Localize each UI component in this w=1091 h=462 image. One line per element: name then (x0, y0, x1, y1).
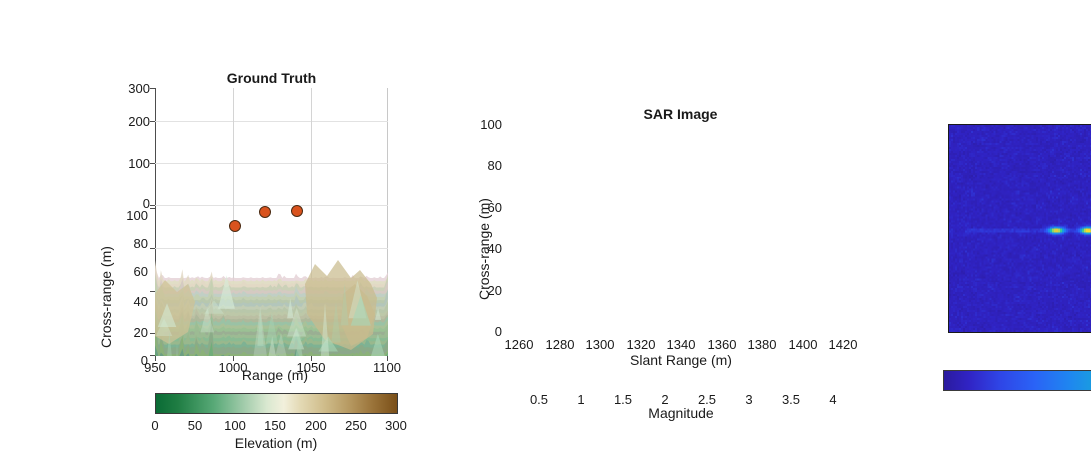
gt-z-tick-300: 300 (108, 81, 150, 96)
magnitude-colorbar-label: Magnitude (611, 405, 751, 421)
ground-truth-panel: Ground Truth 300 200 100 0 100 80 60 40 … (0, 0, 470, 462)
sar-y-tick-0: 0 (458, 324, 502, 339)
sar-heatmap (949, 125, 1091, 332)
mag-cbar-tick-1: 1 (561, 392, 601, 407)
sar-x-tick-1300: 1300 (578, 337, 622, 352)
sar-title: SAR Image (508, 106, 853, 122)
ground-truth-title: Ground Truth (155, 70, 388, 86)
sar-x-tick-1420: 1420 (821, 337, 865, 352)
mag-cbar-tick-4: 4 (813, 392, 853, 407)
sar-x-tick-1400: 1400 (781, 337, 825, 352)
magnitude-colorbar[interactable] (943, 370, 1091, 391)
gt-x-tick-950: 950 (131, 360, 179, 375)
sar-axes[interactable] (948, 124, 1091, 333)
sar-y-tick-60: 60 (458, 200, 502, 215)
sar-x-tick-1260: 1260 (497, 337, 541, 352)
target-marker (229, 220, 241, 232)
sar-x-tick-1360: 1360 (700, 337, 744, 352)
sar-y-tick-20: 20 (458, 283, 502, 298)
sar-x-tick-1340: 1340 (659, 337, 703, 352)
ground-truth-axes (155, 88, 388, 356)
sar-image-panel: SAR Image Cross-range (m) 100 80 60 40 2… (440, 0, 1091, 462)
gt-x-tick-1100: 1100 (363, 360, 411, 375)
sar-y-tick-40: 40 (458, 241, 502, 256)
elev-cbar-tick-250: 250 (336, 418, 376, 433)
elevation-colorbar[interactable] (155, 393, 398, 414)
sar-x-tick-1320: 1320 (619, 337, 663, 352)
gt-z-tick-200: 200 (108, 114, 150, 129)
mag-cbar-tick-35: 3.5 (771, 392, 811, 407)
target-marker (259, 206, 271, 218)
elev-cbar-tick-300: 300 (376, 418, 416, 433)
sar-x-tick-1380: 1380 (740, 337, 784, 352)
gt-xlabel: Range (m) (205, 367, 345, 383)
elev-cbar-tick-0: 0 (135, 418, 175, 433)
mag-cbar-tick-05: 0.5 (519, 392, 559, 407)
sar-x-tick-1280: 1280 (538, 337, 582, 352)
elevation-colorbar-label: Elevation (m) (206, 435, 346, 451)
sar-xlabel: Slant Range (m) (610, 352, 752, 368)
gt-z-tick-100: 100 (108, 156, 150, 171)
gt-y-tick-100: 100 (100, 208, 148, 223)
figure-canvas: Ground Truth 300 200 100 0 100 80 60 40 … (0, 0, 1091, 462)
elev-cbar-tick-150: 150 (255, 418, 295, 433)
target-marker (291, 205, 303, 217)
sar-y-tick-80: 80 (458, 158, 502, 173)
sar-y-tick-100: 100 (458, 117, 502, 132)
terrain-surface (155, 88, 388, 356)
elev-cbar-tick-200: 200 (296, 418, 336, 433)
elev-cbar-tick-50: 50 (175, 418, 215, 433)
elev-cbar-tick-100: 100 (215, 418, 255, 433)
gt-ylabel: Cross-range (m) (98, 246, 114, 348)
